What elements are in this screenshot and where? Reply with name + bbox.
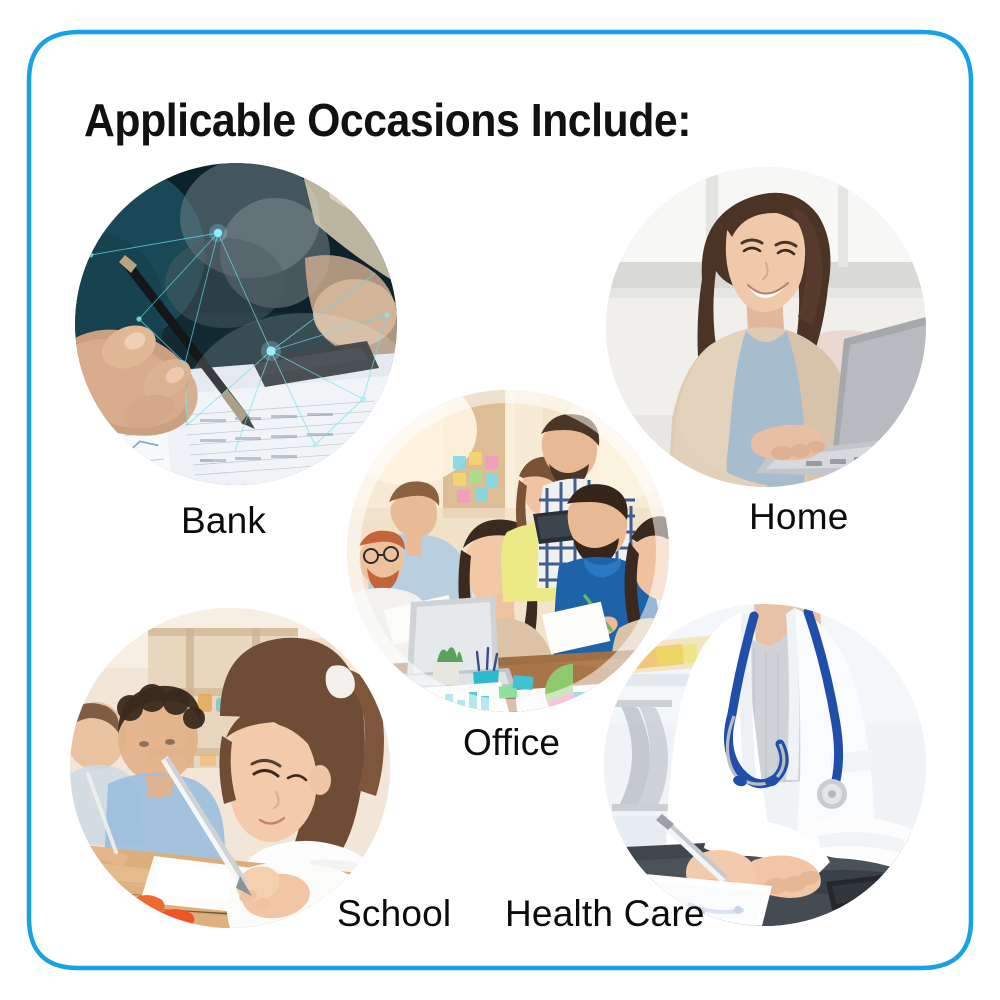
- health-care-photo-circle: [604, 604, 926, 926]
- infographic-page: Applicable Occasions Include:: [0, 0, 1000, 1000]
- occasion-label-school: School: [337, 893, 451, 935]
- page-title: Applicable Occasions Include:: [84, 93, 691, 147]
- school-photo-circle: [70, 608, 390, 928]
- occasion-label-health-care: Health Care: [505, 893, 705, 935]
- home-photo-circle: [606, 167, 926, 487]
- occasion-label-office: Office: [463, 722, 560, 764]
- office-photo-circle: [347, 390, 669, 712]
- occasion-label-bank: Bank: [181, 500, 266, 542]
- bank-photo-circle: [75, 163, 397, 485]
- occasion-label-home: Home: [749, 496, 849, 538]
